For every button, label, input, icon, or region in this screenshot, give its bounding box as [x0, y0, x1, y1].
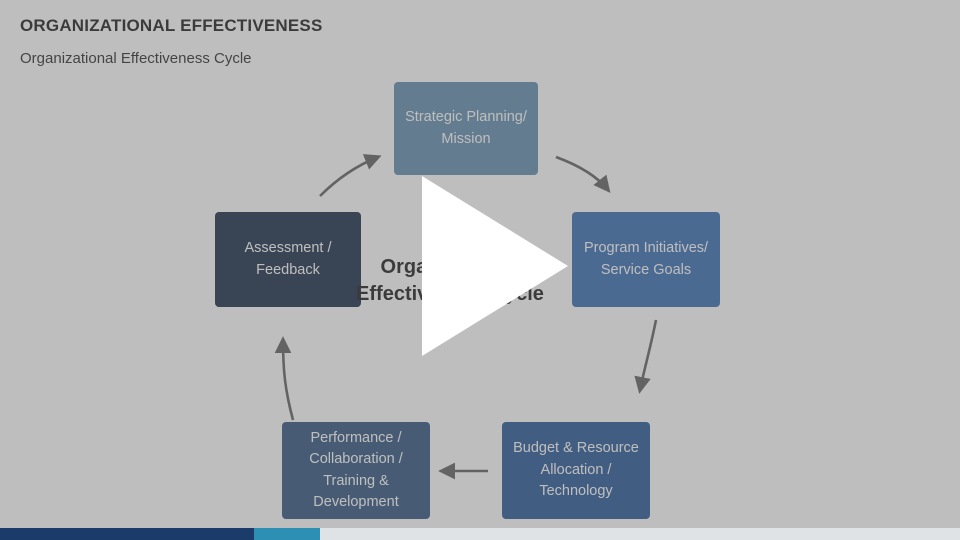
play-button[interactable]	[0, 0, 960, 540]
play-icon[interactable]	[422, 176, 568, 356]
progress-buffered	[254, 528, 320, 540]
video-progress-bar[interactable]	[0, 528, 960, 540]
progress-track[interactable]	[320, 528, 960, 540]
progress-played[interactable]	[0, 528, 254, 540]
video-player-stage[interactable]: ORGANIZATIONAL EFFECTIVENESS Organizatio…	[0, 0, 960, 540]
